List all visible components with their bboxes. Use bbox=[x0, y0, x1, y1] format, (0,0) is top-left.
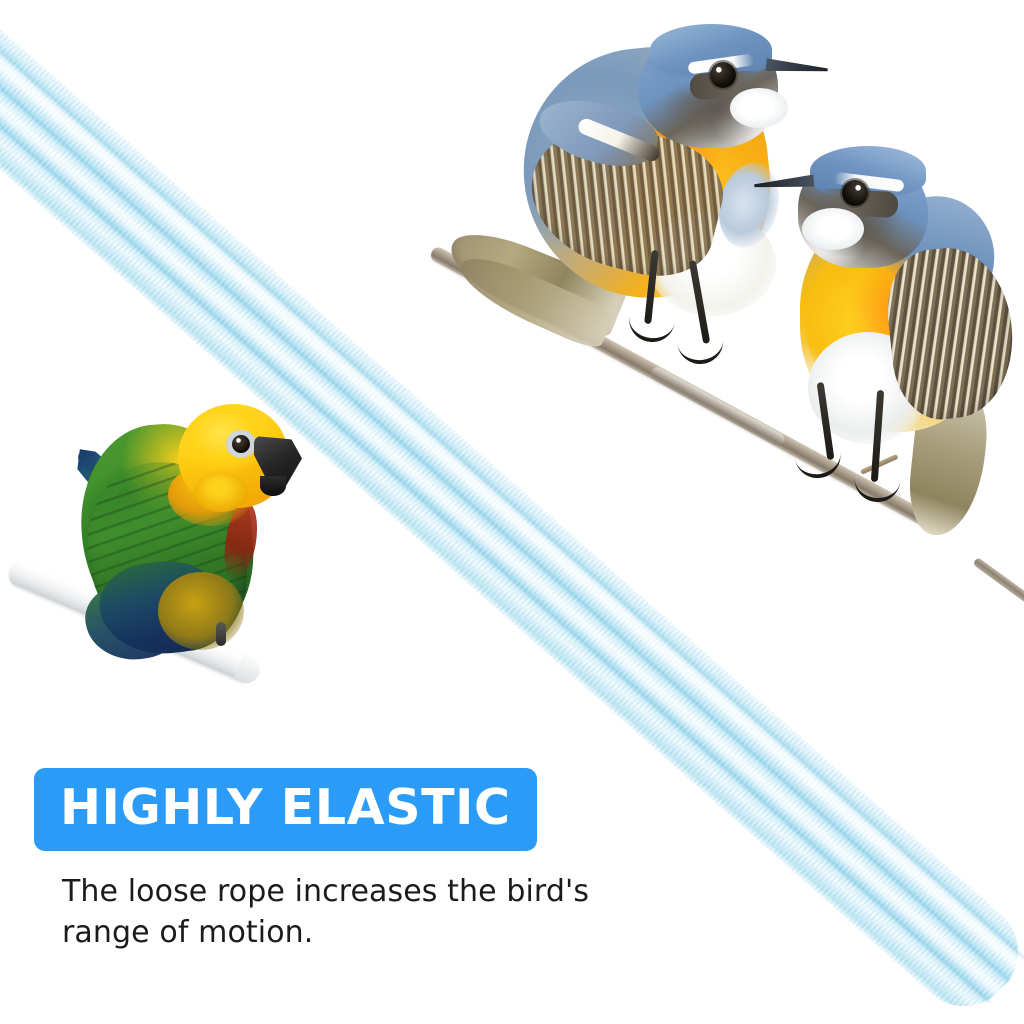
feature-badge: HIGHLY ELASTIC bbox=[34, 768, 537, 851]
caption-block: HIGHLY ELASTIC The loose rope increases … bbox=[34, 768, 674, 953]
parrot-eye bbox=[232, 435, 250, 453]
bluetail-bird-upper bbox=[452, 12, 802, 402]
bird-throat bbox=[802, 208, 864, 250]
bluetail-bird-lower bbox=[762, 132, 1024, 532]
bird-eye bbox=[842, 180, 868, 206]
bird-foot bbox=[626, 309, 676, 345]
parrot-leg bbox=[216, 622, 226, 646]
feature-badge-label: HIGHLY ELASTIC bbox=[60, 779, 511, 837]
parrot-conure bbox=[8, 386, 308, 746]
bird-foot bbox=[677, 332, 726, 367]
parrot-cheek bbox=[194, 472, 248, 512]
bird-foot bbox=[794, 444, 845, 482]
bird-foot bbox=[853, 470, 901, 503]
bird-throat bbox=[730, 88, 788, 128]
bird-eye bbox=[710, 62, 736, 88]
feature-description: The loose rope increases the bird's rang… bbox=[62, 871, 602, 953]
product-image-canvas: HIGHLY ELASTIC The loose rope increases … bbox=[0, 0, 1024, 1024]
parrot-lower-breast bbox=[158, 572, 244, 650]
parrot-lower-mandible bbox=[260, 476, 286, 496]
